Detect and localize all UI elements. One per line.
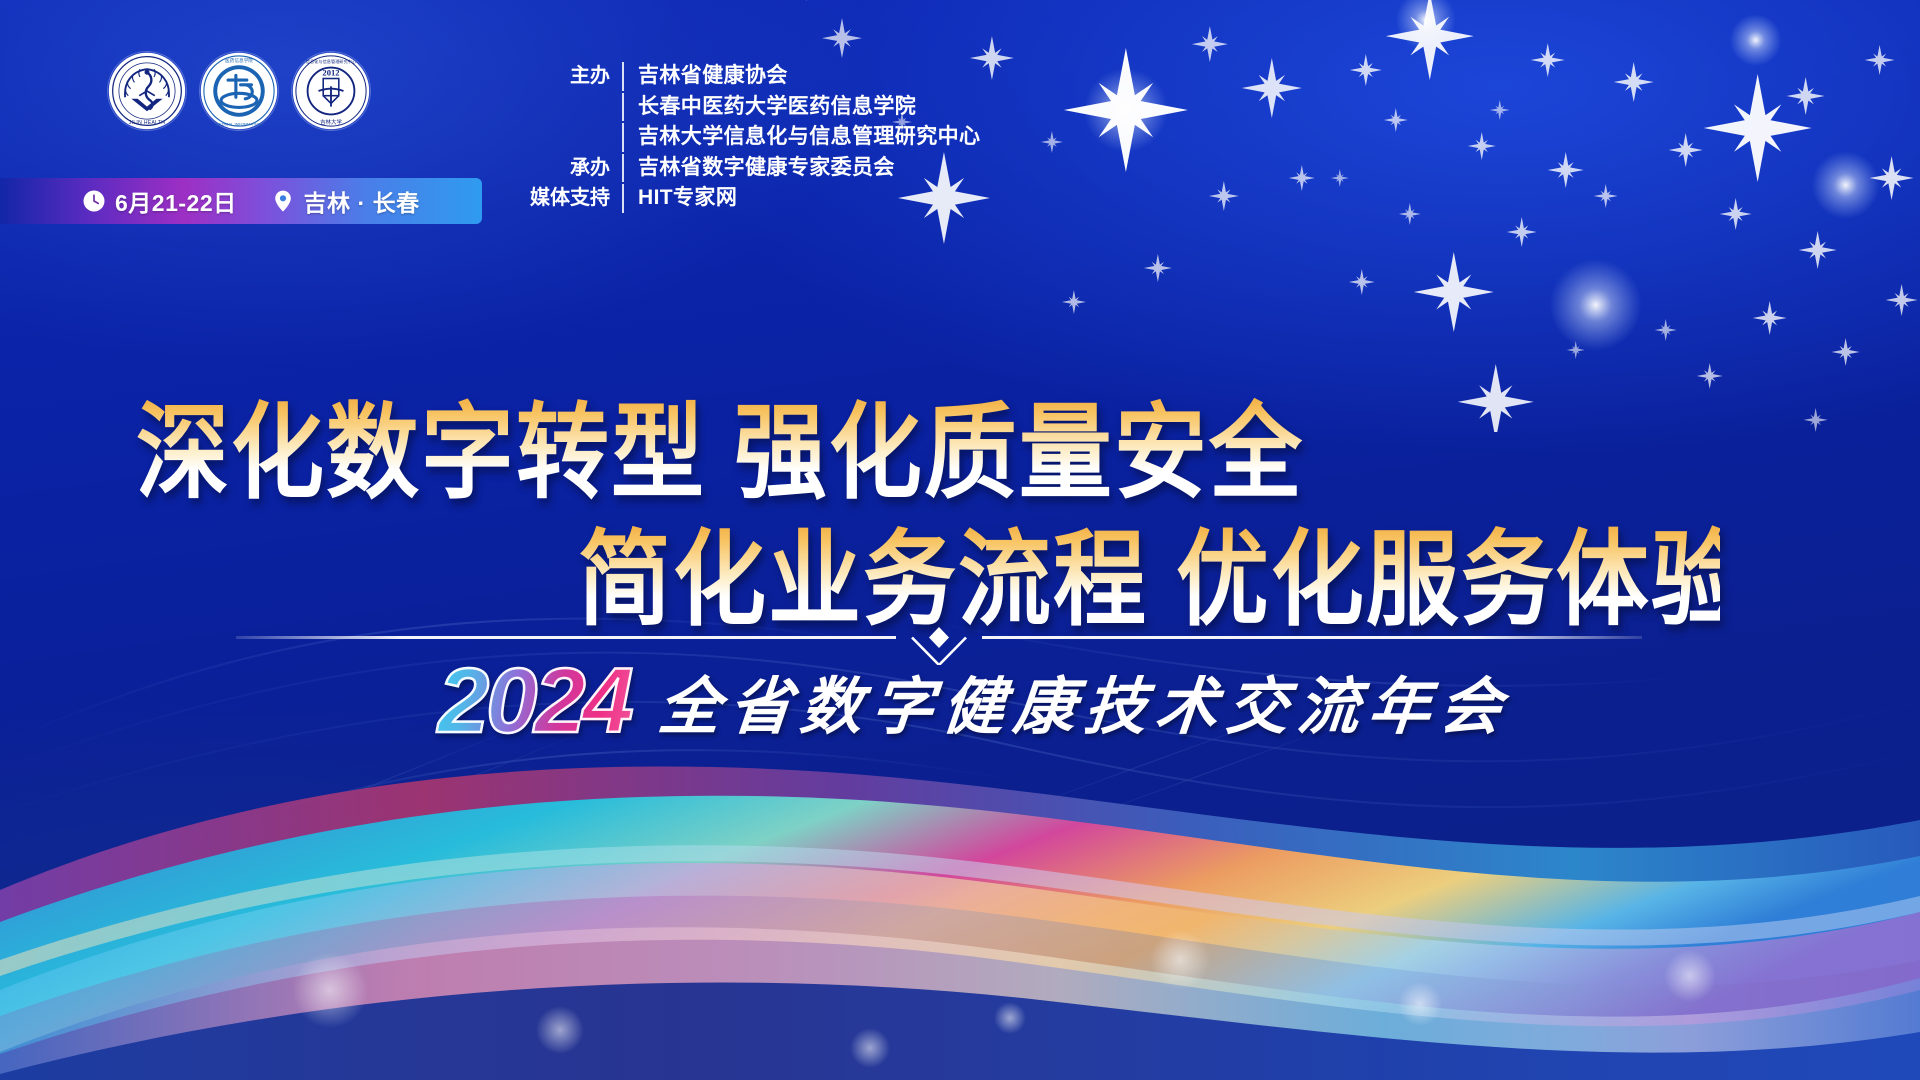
organizer-credits: 主办 吉林省健康协会 长春中医药大学医药信息学院 吉林大学信息化与信息管理研究中… xyxy=(530,62,980,213)
organizer-value: 吉林省健康协会 xyxy=(624,62,788,91)
organizer-label: 承办 xyxy=(530,154,622,183)
date-item: 6月21-22日 xyxy=(82,184,237,218)
organizer-row: 吉林大学信息化与信息管理研究中心 xyxy=(530,123,980,152)
organizer-value: 长春中医药大学医药信息学院 xyxy=(624,93,916,122)
svg-text:JILIN HEALTH: JILIN HEALTH xyxy=(129,120,166,126)
location-pin-icon xyxy=(271,189,295,213)
organizer-row: 长春中医药大学医药信息学院 xyxy=(530,93,980,122)
organizer-label: 媒体支持 xyxy=(530,184,622,213)
headline-line-2: 简化业务流程 优化服务体验 xyxy=(0,519,1720,641)
organizer-logos: JILIN HEALTH 医药信息学院 MEDICAL INFORMATION … xyxy=(108,52,370,130)
organizer-value: 吉林大学信息化与信息管理研究中心 xyxy=(624,123,980,152)
organizer-row: 主办 吉林省健康协会 xyxy=(530,62,980,91)
organizer-row: 媒体支持 HIT专家网 xyxy=(530,184,980,213)
headline: 深化数字转型 强化质量安全 简化业务流程 优化服务体验 xyxy=(0,392,1720,628)
meta-bar: 6月21-22日 吉林 · 长春 xyxy=(0,178,482,224)
conference-banner: JILIN HEALTH 医药信息学院 MEDICAL INFORMATION … xyxy=(0,0,1920,1080)
date-text: 6月21-22日 xyxy=(115,184,237,218)
svg-text:MEDICAL INFORMATION: MEDICAL INFORMATION xyxy=(216,121,263,126)
svg-text:信息化与信息管理研究中心: 信息化与信息管理研究中心 xyxy=(306,58,357,65)
svg-text:2012: 2012 xyxy=(322,67,339,77)
organizer-label: 主办 xyxy=(530,62,622,91)
location-item: 吉林 · 长春 xyxy=(271,184,420,218)
wave-decoration xyxy=(0,660,1920,1080)
organizer-value: HIT专家网 xyxy=(624,184,737,213)
jilin-health-association-logo: JILIN HEALTH xyxy=(108,52,186,130)
school-of-medical-information-logo: 医药信息学院 MEDICAL INFORMATION xyxy=(200,52,278,130)
organizer-row: 承办 吉林省数字健康专家委员会 xyxy=(530,154,980,183)
clock-icon xyxy=(82,189,106,213)
location-text: 吉林 · 长春 xyxy=(304,184,420,218)
informatization-research-center-logo: 2012 信息化与信息管理研究中心 吉林大学 xyxy=(292,52,370,130)
svg-text:医药信息学院: 医药信息学院 xyxy=(225,57,253,64)
organizer-value: 吉林省数字健康专家委员会 xyxy=(624,154,895,183)
headline-line-1: 深化数字转型 强化质量安全 xyxy=(0,392,1720,514)
